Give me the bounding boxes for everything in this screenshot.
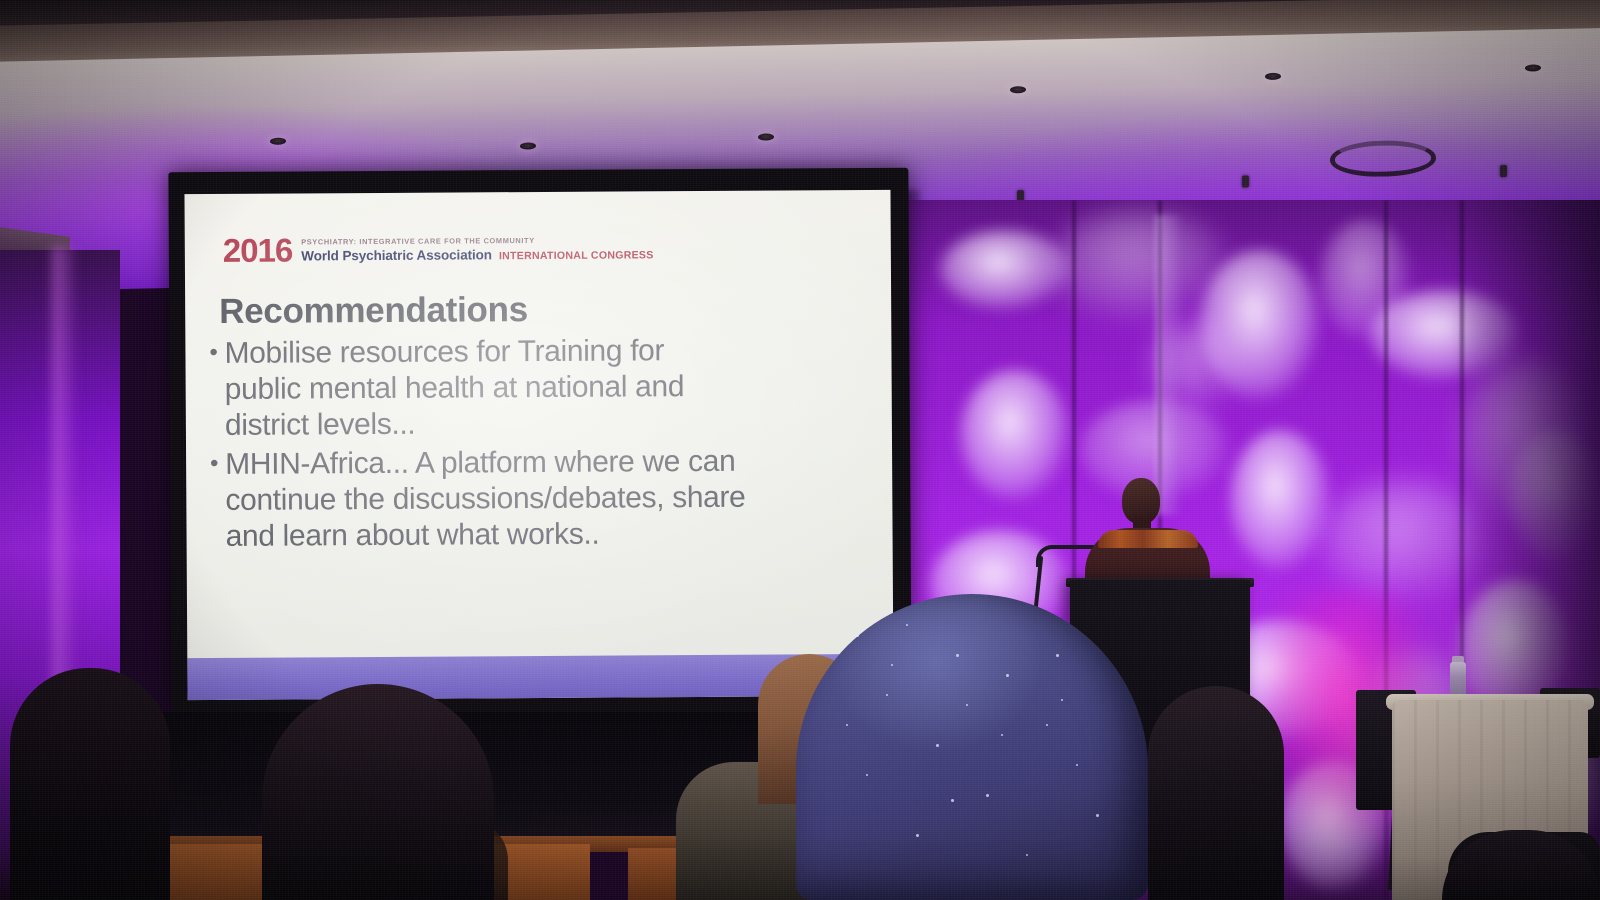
sprinkler-icon [1500,165,1507,177]
audience-member-silhouette [1148,686,1284,900]
bullet-marker: • [209,336,218,444]
bullet-marker: • [210,447,219,555]
logo-tagline: PSYCHIATRY: INTEGRATIVE CARE FOR THE COM… [301,235,653,246]
ceiling-vent-icon [1330,140,1436,178]
speaker-collar [1098,530,1198,548]
ceiling-downlight-icon [1265,73,1281,80]
backdrop-pillar [1155,215,1181,515]
bullet-line: Mobilise resources for Training for [224,333,684,372]
bullet-line: and learn about what works.. [226,516,746,555]
bullet-line: MHIN-Africa... A platform where we can [225,444,745,483]
bullet-line: public mental health at national and [225,369,685,408]
logo-organisation: World Psychiatric Association [301,247,492,263]
presentation-photo-scene: 2016 PSYCHIATRY: INTEGRATIVE CARE FOR TH… [0,0,1600,900]
slide-bullet-list: • Mobilise resources for Training for pu… [209,332,882,558]
congress-logo: 2016 PSYCHIATRY: INTEGRATIVE CARE FOR TH… [223,233,654,265]
bullet-line: continue the discussions/debates, share [225,480,745,519]
ceiling-downlight-icon [270,138,286,145]
slide-title: Recommendations [219,290,528,332]
ceiling-downlight-icon [758,133,774,140]
sprinkler-icon [1242,175,1249,187]
projection-screen: 2016 PSYCHIATRY: INTEGRATIVE CARE FOR TH… [168,168,911,718]
logo-year: 2016 [223,236,293,266]
audience-member-silhouette [10,668,170,900]
ceiling-downlight-icon [1525,64,1541,71]
bullet-line: district levels... [225,405,685,444]
slide-surface: 2016 PSYCHIATRY: INTEGRATIVE CARE FOR TH… [184,190,893,700]
logo-event: INTERNATIONAL CONGRESS [499,249,654,262]
audience-member-silhouette [262,684,494,900]
ceiling-downlight-icon [1010,86,1026,93]
slide-bullet-item: • Mobilise resources for Training for pu… [209,332,882,444]
slide-bullet-item: • MHIN-Africa... A platform where we can… [210,443,883,555]
ceiling-downlight-icon [520,142,536,149]
